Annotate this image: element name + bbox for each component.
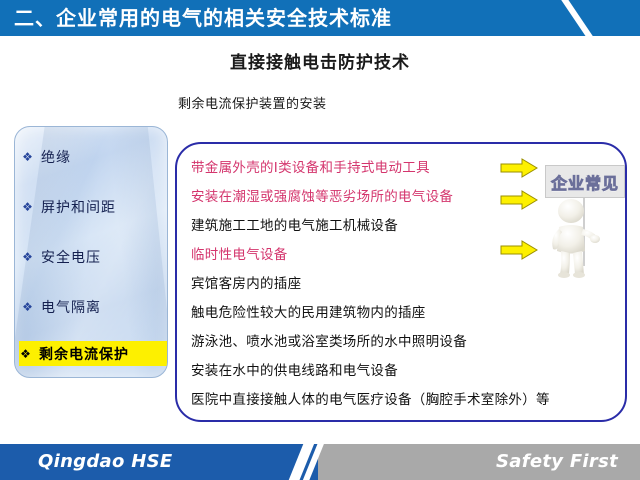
sidebar-item-insulation[interactable]: ❖ 绝缘 [21, 145, 161, 169]
mannequin-figure-icon [543, 197, 613, 279]
requirement-line: 游泳池、喷水池或浴室类场所的水中照明设备 [191, 330, 467, 350]
requirement-line: 医院中直接接触人体的电气医疗设备（胸腔手术室除外）等 [191, 388, 550, 408]
footer-brand-text: Qingdao HSE [38, 451, 172, 472]
requirement-line: 建筑施工工地的电气施工机械设备 [191, 214, 398, 234]
slide-title: 直接接触电击防护技术 [0, 48, 640, 73]
sidebar-item-electrical-isolation[interactable]: ❖ 电气隔离 [21, 295, 161, 319]
diamond-bullet-icon: ❖ [21, 301, 34, 313]
requirement-line: 宾馆客房内的插座 [191, 272, 301, 292]
requirement-line: 安装在水中的供电线路和电气设备 [191, 359, 398, 379]
sidebar-item-residual-current-protection[interactable]: ❖ 剩余电流保护 [19, 341, 167, 366]
requirement-line: 安装在潮湿或强腐蚀等恶劣场所的电气设备 [191, 185, 453, 205]
sidebar-item-safety-voltage[interactable]: ❖ 安全电压 [21, 245, 161, 269]
slide-header-bar: 二、企业常用的电气的相关安全技术标准 [0, 0, 640, 36]
callout-arrow-icon-3 [500, 240, 538, 260]
sidebar-item-label: 绝缘 [41, 147, 71, 167]
sidebar-item-label: 电气隔离 [41, 297, 101, 317]
requirement-line: 临时性电气设备 [191, 243, 288, 263]
sidebar-item-label: 安全电压 [41, 247, 101, 267]
diamond-bullet-icon: ❖ [21, 151, 34, 163]
diamond-bullet-icon: ❖ [21, 201, 34, 213]
common-in-enterprises-sign: 企业常见 [545, 165, 625, 198]
header-title: 二、企业常用的电气的相关安全技术标准 [14, 3, 392, 33]
footer-slogan-text: Safety First [496, 451, 618, 472]
sign-text: 企业常见 [551, 170, 619, 194]
diamond-bullet-icon: ❖ [19, 348, 32, 360]
callout-arrow-icon-2 [500, 190, 538, 210]
callout-arrow-icon-1 [500, 158, 538, 178]
requirement-line: 触电危险性较大的民用建筑物内的插座 [191, 301, 426, 321]
sidebar-item-shielding-clearance[interactable]: ❖ 屏护和间距 [21, 195, 161, 219]
protection-method-sidebar: ❖ 绝缘 ❖ 屏护和间距 ❖ 安全电压 ❖ 电气隔离 ❖ 剩余电流保护 [14, 126, 168, 378]
sidebar-item-label: 屏护和间距 [41, 197, 116, 217]
slide-footer-bar: Qingdao HSE Safety First [0, 444, 640, 480]
sidebar-item-label: 剩余电流保护 [39, 344, 129, 364]
diamond-bullet-icon: ❖ [21, 251, 34, 263]
requirement-line: 带金属外壳的Ⅰ类设备和手持式电动工具 [191, 156, 430, 176]
slide-subtitle: 剩余电流保护装置的安装 [178, 93, 327, 112]
